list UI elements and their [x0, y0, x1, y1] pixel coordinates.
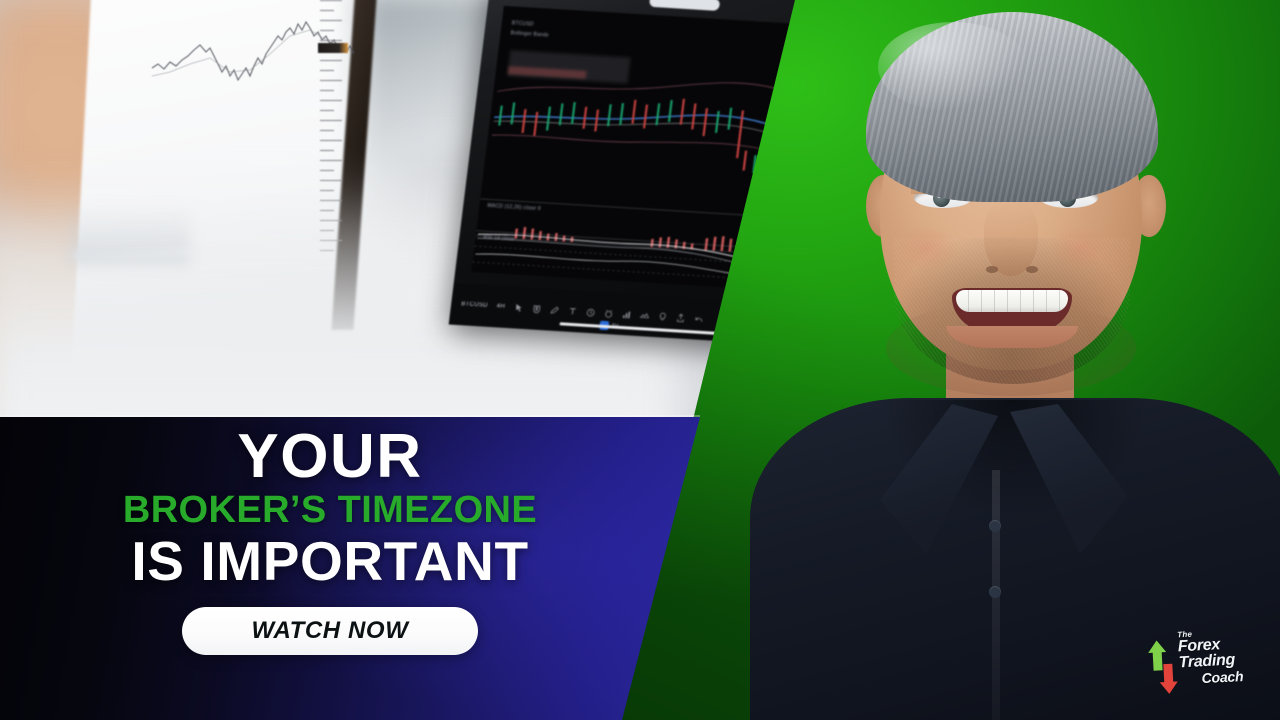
- share-icon[interactable]: [675, 313, 685, 322]
- bulb-icon[interactable]: [657, 312, 667, 321]
- magnet-icon[interactable]: [531, 304, 541, 313]
- shirt-button-bottom: [989, 586, 1001, 598]
- headline-line-3: IS IMPORTANT: [131, 533, 528, 590]
- alarm-icon[interactable]: [603, 308, 613, 317]
- hair-highlight: [878, 22, 1028, 112]
- headline-block: YOUR BROKER’S TIMEZONE IS IMPORTANT WATC…: [0, 417, 660, 720]
- cursor-icon[interactable]: [513, 303, 523, 312]
- text-icon[interactable]: [567, 306, 577, 315]
- pencil-icon[interactable]: [549, 305, 559, 314]
- logo-coach: Coach: [1201, 668, 1266, 686]
- tablet-timeframe-label[interactable]: 4H: [496, 303, 505, 309]
- wave-icon[interactable]: [639, 311, 649, 320]
- nostril-right: [1026, 266, 1038, 273]
- brand-logo: The Forex Trading Coach: [1143, 625, 1267, 709]
- shirt-button-top: [989, 520, 1001, 532]
- thumbnail-canvas: BTCUSD Bollinger Bands: [0, 0, 1280, 720]
- headline-line-1: YOUR: [237, 425, 422, 488]
- tablet-indicator-bbands: Bollinger Bands: [510, 30, 549, 38]
- clock-icon[interactable]: [585, 307, 595, 316]
- tablet-symbol-label[interactable]: BTCUSD: [461, 301, 488, 309]
- watch-now-button[interactable]: WATCH NOW: [182, 607, 478, 655]
- logo-arrows-icon: [1143, 635, 1182, 699]
- undo-icon[interactable]: [693, 314, 703, 323]
- nostril-left: [986, 266, 998, 273]
- logo-forex: Forex Trading: [1178, 635, 1266, 672]
- nose: [984, 200, 1038, 276]
- monitor-price-tag: [318, 43, 348, 53]
- logo-text-block: The Forex Trading Coach: [1177, 627, 1266, 686]
- presenter-portrait: The Forex Trading Coach: [760, 0, 1280, 720]
- headline-line-2: BROKER’S TIMEZONE: [123, 490, 537, 532]
- teeth-gaps: [956, 290, 1068, 312]
- watch-now-label: WATCH NOW: [252, 617, 409, 645]
- bars-icon[interactable]: [621, 310, 631, 319]
